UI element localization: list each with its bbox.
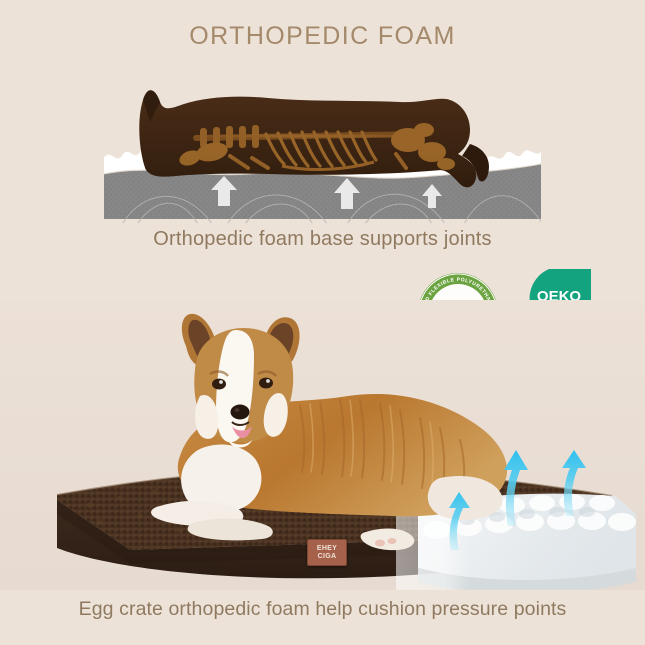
diagram-caption: Orthopedic foam base supports joints [0,228,645,251]
infographic-canvas: ORTHOPEDIC FOAM [0,0,645,645]
bed-brand-tag-line2: CIGA [318,553,337,560]
foam-cross-section-diagram [0,78,645,223]
footer-caption: Egg crate orthopedic foam help cushion p… [0,598,645,621]
dog-head [182,314,300,448]
bed-brand-tag: EHEY CIGA [307,539,347,566]
page-title: ORTHOPEDIC FOAM [0,22,645,51]
bed-brand-tag-line1: EHEY [317,545,337,552]
